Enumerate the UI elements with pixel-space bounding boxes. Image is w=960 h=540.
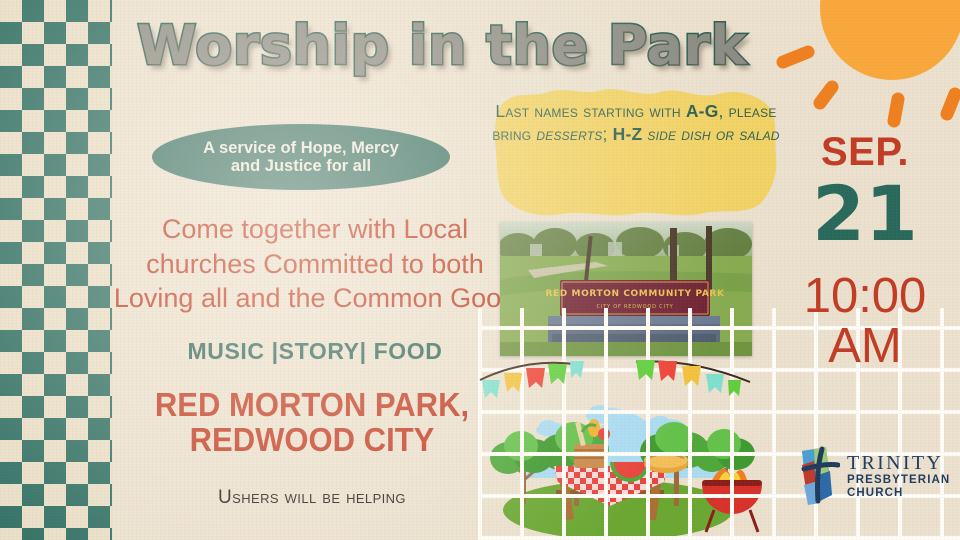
checkerboard-pattern <box>0 0 112 540</box>
event-time: 10:00 AM <box>772 272 958 372</box>
invitation-line-2: churches Committed to both <box>106 247 524 282</box>
logo-line-church: CHURCH <box>847 487 950 500</box>
logo-line-presbyterian: PRESBYTERIAN <box>847 474 950 487</box>
potluck-instructions-block: Last names starting with A-G, please bri… <box>492 86 780 218</box>
potluck-seg-5: ; <box>602 124 612 144</box>
invitation-line-1: Come together with Local <box>106 212 524 247</box>
potluck-group-hz: H-Z <box>613 124 643 144</box>
watermelon-icon <box>612 462 648 480</box>
church-logo: TRINITY PRESBYTERIAN CHURCH <box>792 440 952 512</box>
activities-line: MUSIC |STORY| FOOD <box>120 338 510 365</box>
park-sign-line-1: RED MORTON COMMUNITY PARK <box>545 289 724 299</box>
pie-icon <box>644 452 688 473</box>
venue-name: RED MORTON PARK, REDWOOD CITY <box>124 388 500 458</box>
tagline-line-1: A service of Hope, Mercy <box>203 139 399 157</box>
bunting-flags <box>478 358 763 406</box>
event-day: 21 <box>780 176 950 252</box>
invitation-copy: Come together with Local churches Commit… <box>106 212 524 316</box>
church-logo-text: TRINITY PRESBYTERIAN CHURCH <box>847 452 950 500</box>
potluck-instructions-text: Last names starting with A-G, please bri… <box>492 86 780 146</box>
ushers-note: Ushers will be helping <box>112 487 512 509</box>
logo-line-trinity: TRINITY <box>847 452 950 474</box>
potluck-group-ag: A-G <box>686 101 719 121</box>
potluck-sidedish: side dish or salad <box>642 124 779 144</box>
park-sign-line-2: CITY OF REDWOOD CITY <box>597 304 674 310</box>
invitation-line-3: Loving all and the Common Good <box>106 281 524 316</box>
potluck-seg-1: Last names starting with <box>495 101 685 121</box>
poster-canvas: Worship in the Park A service of Hope, M… <box>0 0 960 540</box>
venue-line-2: REDWOOD CITY <box>124 423 500 458</box>
poster-title: Worship in the Park <box>112 14 772 77</box>
event-time-line-1: 10:00 <box>772 272 958 322</box>
park-photo: RED MORTON COMMUNITY PARK CITY OF REDWOO… <box>500 222 752 356</box>
sun-graphic <box>750 0 960 146</box>
potluck-desserts: desserts <box>536 124 602 144</box>
tagline-line-2: and Justice for all <box>203 157 399 175</box>
service-tagline-badge: A service of Hope, Mercy and Justice for… <box>152 124 450 190</box>
venue-line-1: RED MORTON PARK, <box>124 388 500 423</box>
service-tagline-text: A service of Hope, Mercy and Justice for… <box>191 139 411 176</box>
trinity-cross-icon <box>792 445 840 507</box>
event-time-line-2: AM <box>772 322 958 372</box>
